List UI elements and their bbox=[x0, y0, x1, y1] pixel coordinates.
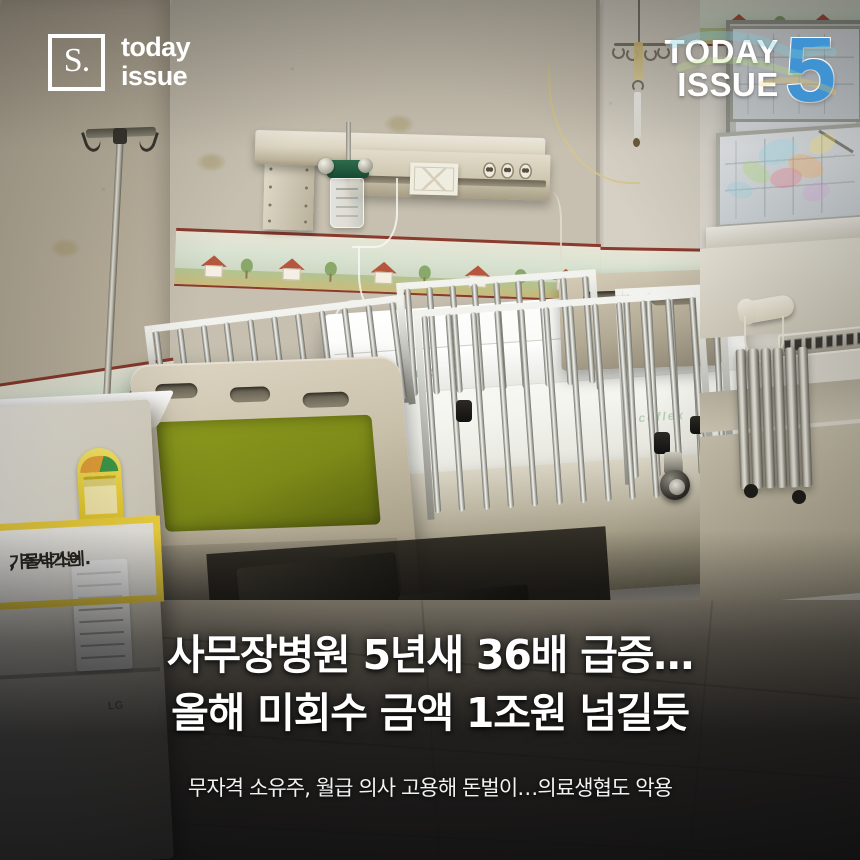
today-issue-card: ecoflex ecoflex bbox=[0, 0, 860, 860]
brand-line-1: today bbox=[121, 33, 190, 62]
brand-logo[interactable]: S. today issue bbox=[48, 33, 190, 91]
brand-line-2: issue bbox=[121, 62, 190, 91]
headline: 사무장병원 5년새 36배 급증… 올해 미회수 금액 1조원 넘길듯 bbox=[0, 626, 860, 742]
issue-number: 5 bbox=[785, 30, 836, 111]
issue-word-today: TODAY bbox=[664, 35, 778, 68]
today-issue-badge: TODAY ISSUE 5 bbox=[664, 26, 836, 111]
headline-line-1: 사무장병원 5년새 36배 급증… bbox=[0, 626, 860, 684]
today-issue-words: TODAY ISSUE bbox=[664, 35, 778, 101]
brand-wordmark: today issue bbox=[121, 33, 190, 91]
issue-word-issue: ISSUE bbox=[664, 68, 778, 101]
s-dot-logo-icon: S. bbox=[48, 34, 105, 91]
headline-line-2: 올해 미회수 금액 1조원 넘길듯 bbox=[0, 684, 860, 742]
subheadline: 무자격 소유주, 월급 의사 고용해 돈벌이…의료생협도 악용 bbox=[0, 772, 860, 802]
